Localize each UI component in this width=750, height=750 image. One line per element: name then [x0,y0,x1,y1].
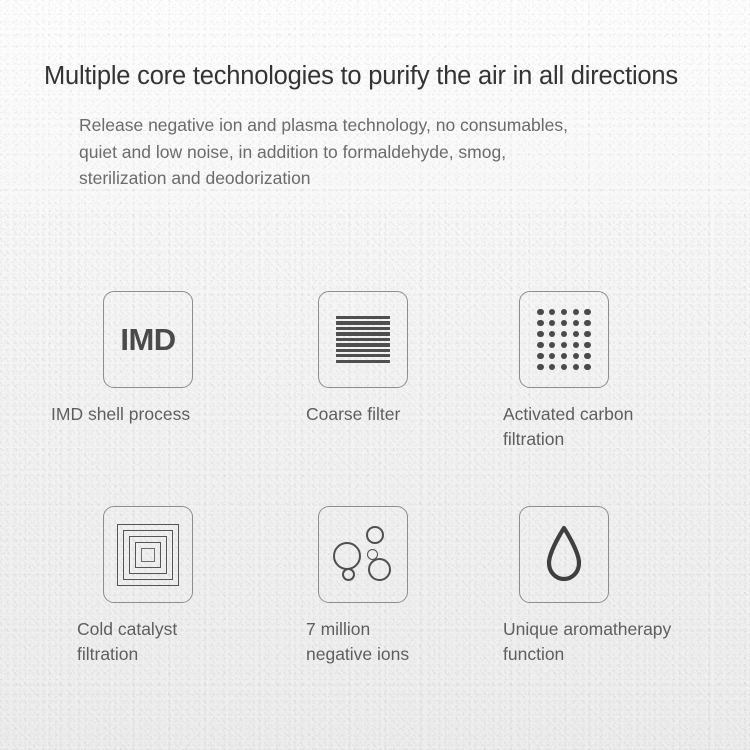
carbon-dot [561,353,567,359]
caption-line: filtration [503,427,703,452]
icon-box-negative-ions [318,506,408,603]
carbon-dot [573,353,579,359]
concentric-square [141,548,155,562]
filter-stripe [336,343,390,346]
caption-line: Unique aromatherapy [503,617,733,642]
filter-stripe [336,354,390,357]
carbon-dot [561,364,567,370]
filter-stripe [336,327,390,330]
subheadline-line-2: quiet and low noise, in addition to form… [79,139,709,166]
page-subheadline: Release negative ion and plasma technolo… [79,112,709,192]
carbon-dot [573,320,579,326]
filter-stripe [336,332,390,335]
carbon-dot [537,364,543,370]
carbon-dot [537,342,543,348]
carbon-dot [537,353,543,359]
icon-box-activated-carbon [519,291,609,388]
carbon-dot [549,331,555,337]
infographic-page: Multiple core technologies to purify the… [0,0,750,750]
caption-line: 7 million [306,617,486,642]
carbon-dot [584,353,590,359]
caption-line: negative ions [306,642,486,667]
caption-line: Activated carbon [503,402,703,427]
carbon-dot [537,309,543,315]
caption-line: Cold catalyst [77,617,247,642]
carbon-dot [561,320,567,326]
icon-box-aromatherapy [519,506,609,603]
filter-stripe [336,338,390,341]
ion-bubble-top [366,526,384,544]
feature-caption-cold-catalyst: Cold catalyst filtration [77,617,247,667]
filter-stripe [336,321,390,324]
content-layer: Multiple core technologies to purify the… [0,0,750,750]
feature-card-coarse-filter: Coarse filter [264,291,494,427]
carbon-dot [573,364,579,370]
coarse-filter-stripes-icon [336,316,390,363]
feature-card-aromatherapy: Unique aromatherapy function [479,506,709,667]
cold-catalyst-concentric-squares-icon [117,524,179,586]
carbon-dot [584,364,590,370]
icon-box-cold-catalyst [103,506,193,603]
feature-caption-activated-carbon: Activated carbon filtration [503,402,703,452]
icon-box-imd: IMD [103,291,193,388]
ion-bubble-large [333,542,361,570]
filter-stripe [336,316,390,319]
subheadline-line-3: sterilization and deodorization [79,165,709,192]
caption-line: filtration [77,642,247,667]
icon-box-coarse-filter [318,291,408,388]
caption-line: IMD shell process [51,402,286,427]
filter-stripe [336,349,390,352]
carbon-dot [561,331,567,337]
ion-bubble-small [342,568,355,581]
caption-line: function [503,642,733,667]
imd-wordmark-icon: IMD [120,324,175,355]
filter-stripe [336,360,390,363]
activated-carbon-dot-grid-icon [537,309,591,371]
carbon-dot [549,320,555,326]
carbon-dot [584,320,590,326]
feature-card-activated-carbon: Activated carbon filtration [479,291,709,452]
carbon-dot [584,309,590,315]
carbon-dot [537,331,543,337]
feature-card-imd-shell-process: IMD IMD shell process [49,291,279,427]
feature-card-cold-catalyst: Cold catalyst filtration [49,506,279,667]
carbon-dot [584,342,590,348]
carbon-dot [584,331,590,337]
page-headline: Multiple core technologies to purify the… [44,62,724,91]
carbon-dot [573,309,579,315]
feature-caption-imd: IMD shell process [51,402,286,427]
carbon-dot [549,353,555,359]
negative-ion-bubbles-icon [331,525,395,585]
feature-caption-aromatherapy: Unique aromatherapy function [503,617,733,667]
carbon-dot [561,309,567,315]
carbon-dot [549,342,555,348]
ion-bubble-bottom [368,558,391,581]
carbon-dot [561,342,567,348]
carbon-dot [573,342,579,348]
aromatherapy-droplet-icon [542,525,586,585]
feature-card-negative-ions: 7 million negative ions [264,506,494,667]
carbon-dot [549,364,555,370]
carbon-dot [537,320,543,326]
carbon-dot [549,309,555,315]
carbon-dot [573,331,579,337]
subheadline-line-1: Release negative ion and plasma technolo… [79,112,709,139]
feature-caption-negative-ions: 7 million negative ions [306,617,486,667]
